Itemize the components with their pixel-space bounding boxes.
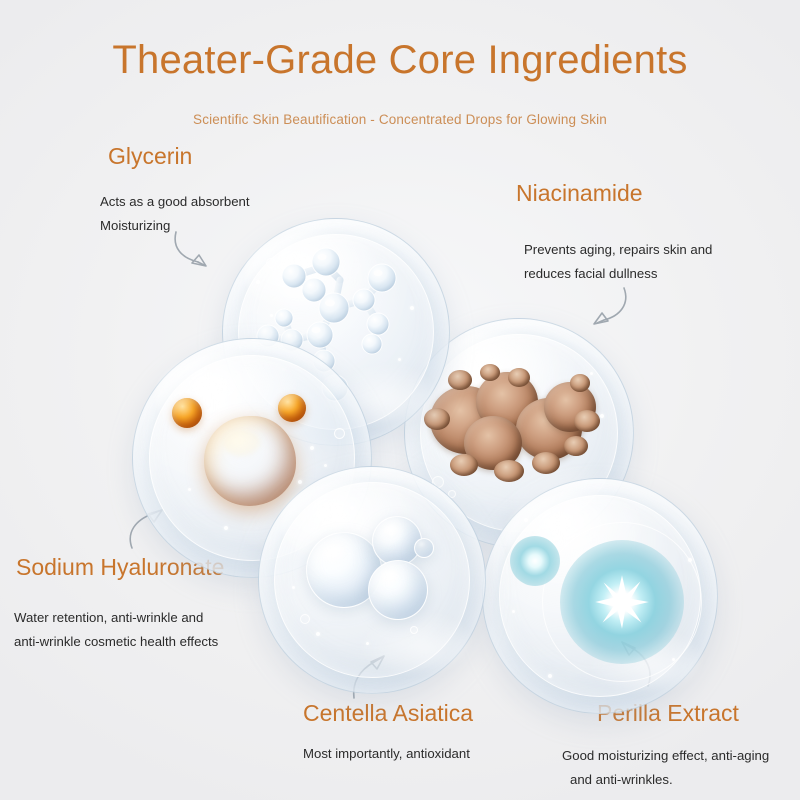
ingredient-description-perilla-extract: Good moisturizing effect, anti-aging and…: [562, 744, 769, 793]
description-line: and anti-wrinkles.: [562, 768, 769, 792]
ingredient-name-glycerin: Glycerin: [108, 143, 192, 170]
ingredient-name-niacinamide: Niacinamide: [516, 180, 643, 207]
description-line: Water retention, anti-wrinkle and: [14, 606, 218, 630]
description-line: Most importantly, antioxidant: [303, 742, 470, 766]
amber-droplet-small-right-icon: [278, 394, 306, 422]
page-subtitle: Scientific Skin Beautification - Concent…: [0, 112, 800, 127]
description-line: Good moisturizing effect, anti-aging: [562, 744, 769, 768]
gel-sphere-tiny-icon: [414, 538, 434, 558]
teal-glow-small-icon: [510, 536, 560, 586]
ingredient-description-centella-asiatica: Most importantly, antioxidant: [303, 742, 470, 766]
page-title: Theater-Grade Core Ingredients: [0, 38, 800, 83]
amber-droplet-small-left-icon: [172, 398, 202, 428]
dish-highlight-secondary-centella-asiatica: [358, 612, 467, 671]
petri-dish-perilla-extract: [482, 478, 718, 714]
petri-dish-centella-asiatica: [258, 466, 486, 694]
arrow-glycerin-icon: [164, 222, 224, 282]
ingredient-description-sodium-hyaluronate: Water retention, anti-wrinkle and anti-w…: [14, 606, 218, 655]
gel-sphere-medium-icon: [368, 560, 428, 620]
amber-droplet-large-icon: [204, 416, 296, 506]
description-line: Prevents aging, repairs skin and: [524, 238, 712, 262]
arrow-niacinamide-icon: [580, 280, 640, 340]
botanical-cluster-icon: [424, 364, 614, 494]
ingredient-infographic: Theater-Grade Core Ingredients Scientifi…: [0, 0, 800, 800]
description-line: Acts as a good absorbent: [100, 190, 250, 214]
gel-sphere-small-icon: [372, 516, 422, 566]
description-line: anti-wrinkle cosmetic health effects: [14, 630, 218, 654]
